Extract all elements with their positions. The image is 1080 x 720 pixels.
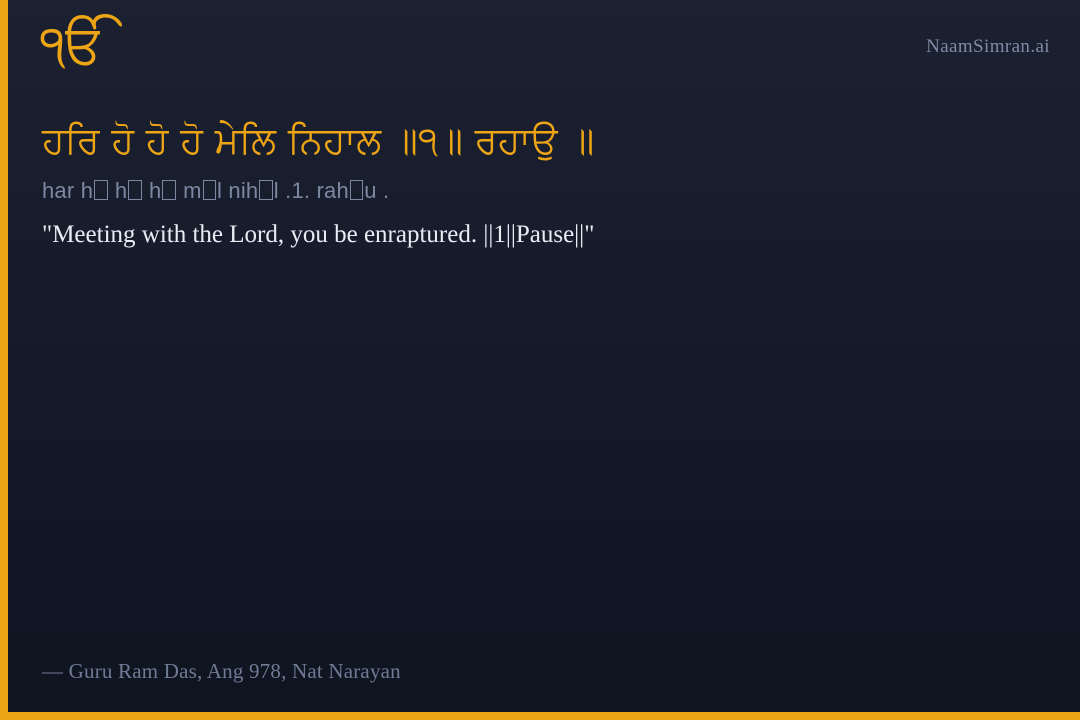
transliteration-segment: h xyxy=(109,178,128,203)
missing-glyph-box xyxy=(350,180,364,200)
english-translation-text: "Meeting with the Lord, you be enrapture… xyxy=(42,218,1040,252)
attribution-label: — Guru Ram Das, Ang 978, Nat Narayan xyxy=(42,659,401,684)
transliteration-segment: h xyxy=(143,178,162,203)
missing-glyph-box xyxy=(128,180,142,200)
gurmukhi-verse-text: ਹਰਿ ਹੋ ਹੋ ਹੋ ਮੇਲਿ ਨਿਹਾਲ ॥੧॥ ਰਹਾਉ ॥ xyxy=(42,118,1040,163)
brand-label: NaamSimran.ai xyxy=(926,36,1050,58)
transliteration-segment: l .1. rah xyxy=(274,178,349,203)
missing-glyph-box xyxy=(162,180,176,200)
missing-glyph-box xyxy=(259,180,273,200)
missing-glyph-box xyxy=(94,180,108,200)
transliteration-text: har h h h ml nihl .1. rahu . xyxy=(42,177,1040,206)
transliteration-segment: m xyxy=(177,178,202,203)
card-header: ੴ NaamSimran.ai xyxy=(8,0,1080,110)
shabad-card: ੴ NaamSimran.ai ਹਰਿ ਹੋ ਹੋ ਹੋ ਮੇਲਿ ਨਿਹਾਲ … xyxy=(0,0,1080,720)
missing-glyph-box xyxy=(203,180,217,200)
transliteration-segment: har h xyxy=(42,178,93,203)
transliteration-segment: l nih xyxy=(217,178,258,203)
verse-block: ਹਰਿ ਹੋ ਹੋ ਹੋ ਮੇਲਿ ਨਿਹਾਲ ॥੧॥ ਰਹਾਉ ॥ har h… xyxy=(42,118,1040,251)
ik-onkar-icon: ੴ xyxy=(40,18,106,72)
transliteration-segment: u . xyxy=(364,178,389,203)
